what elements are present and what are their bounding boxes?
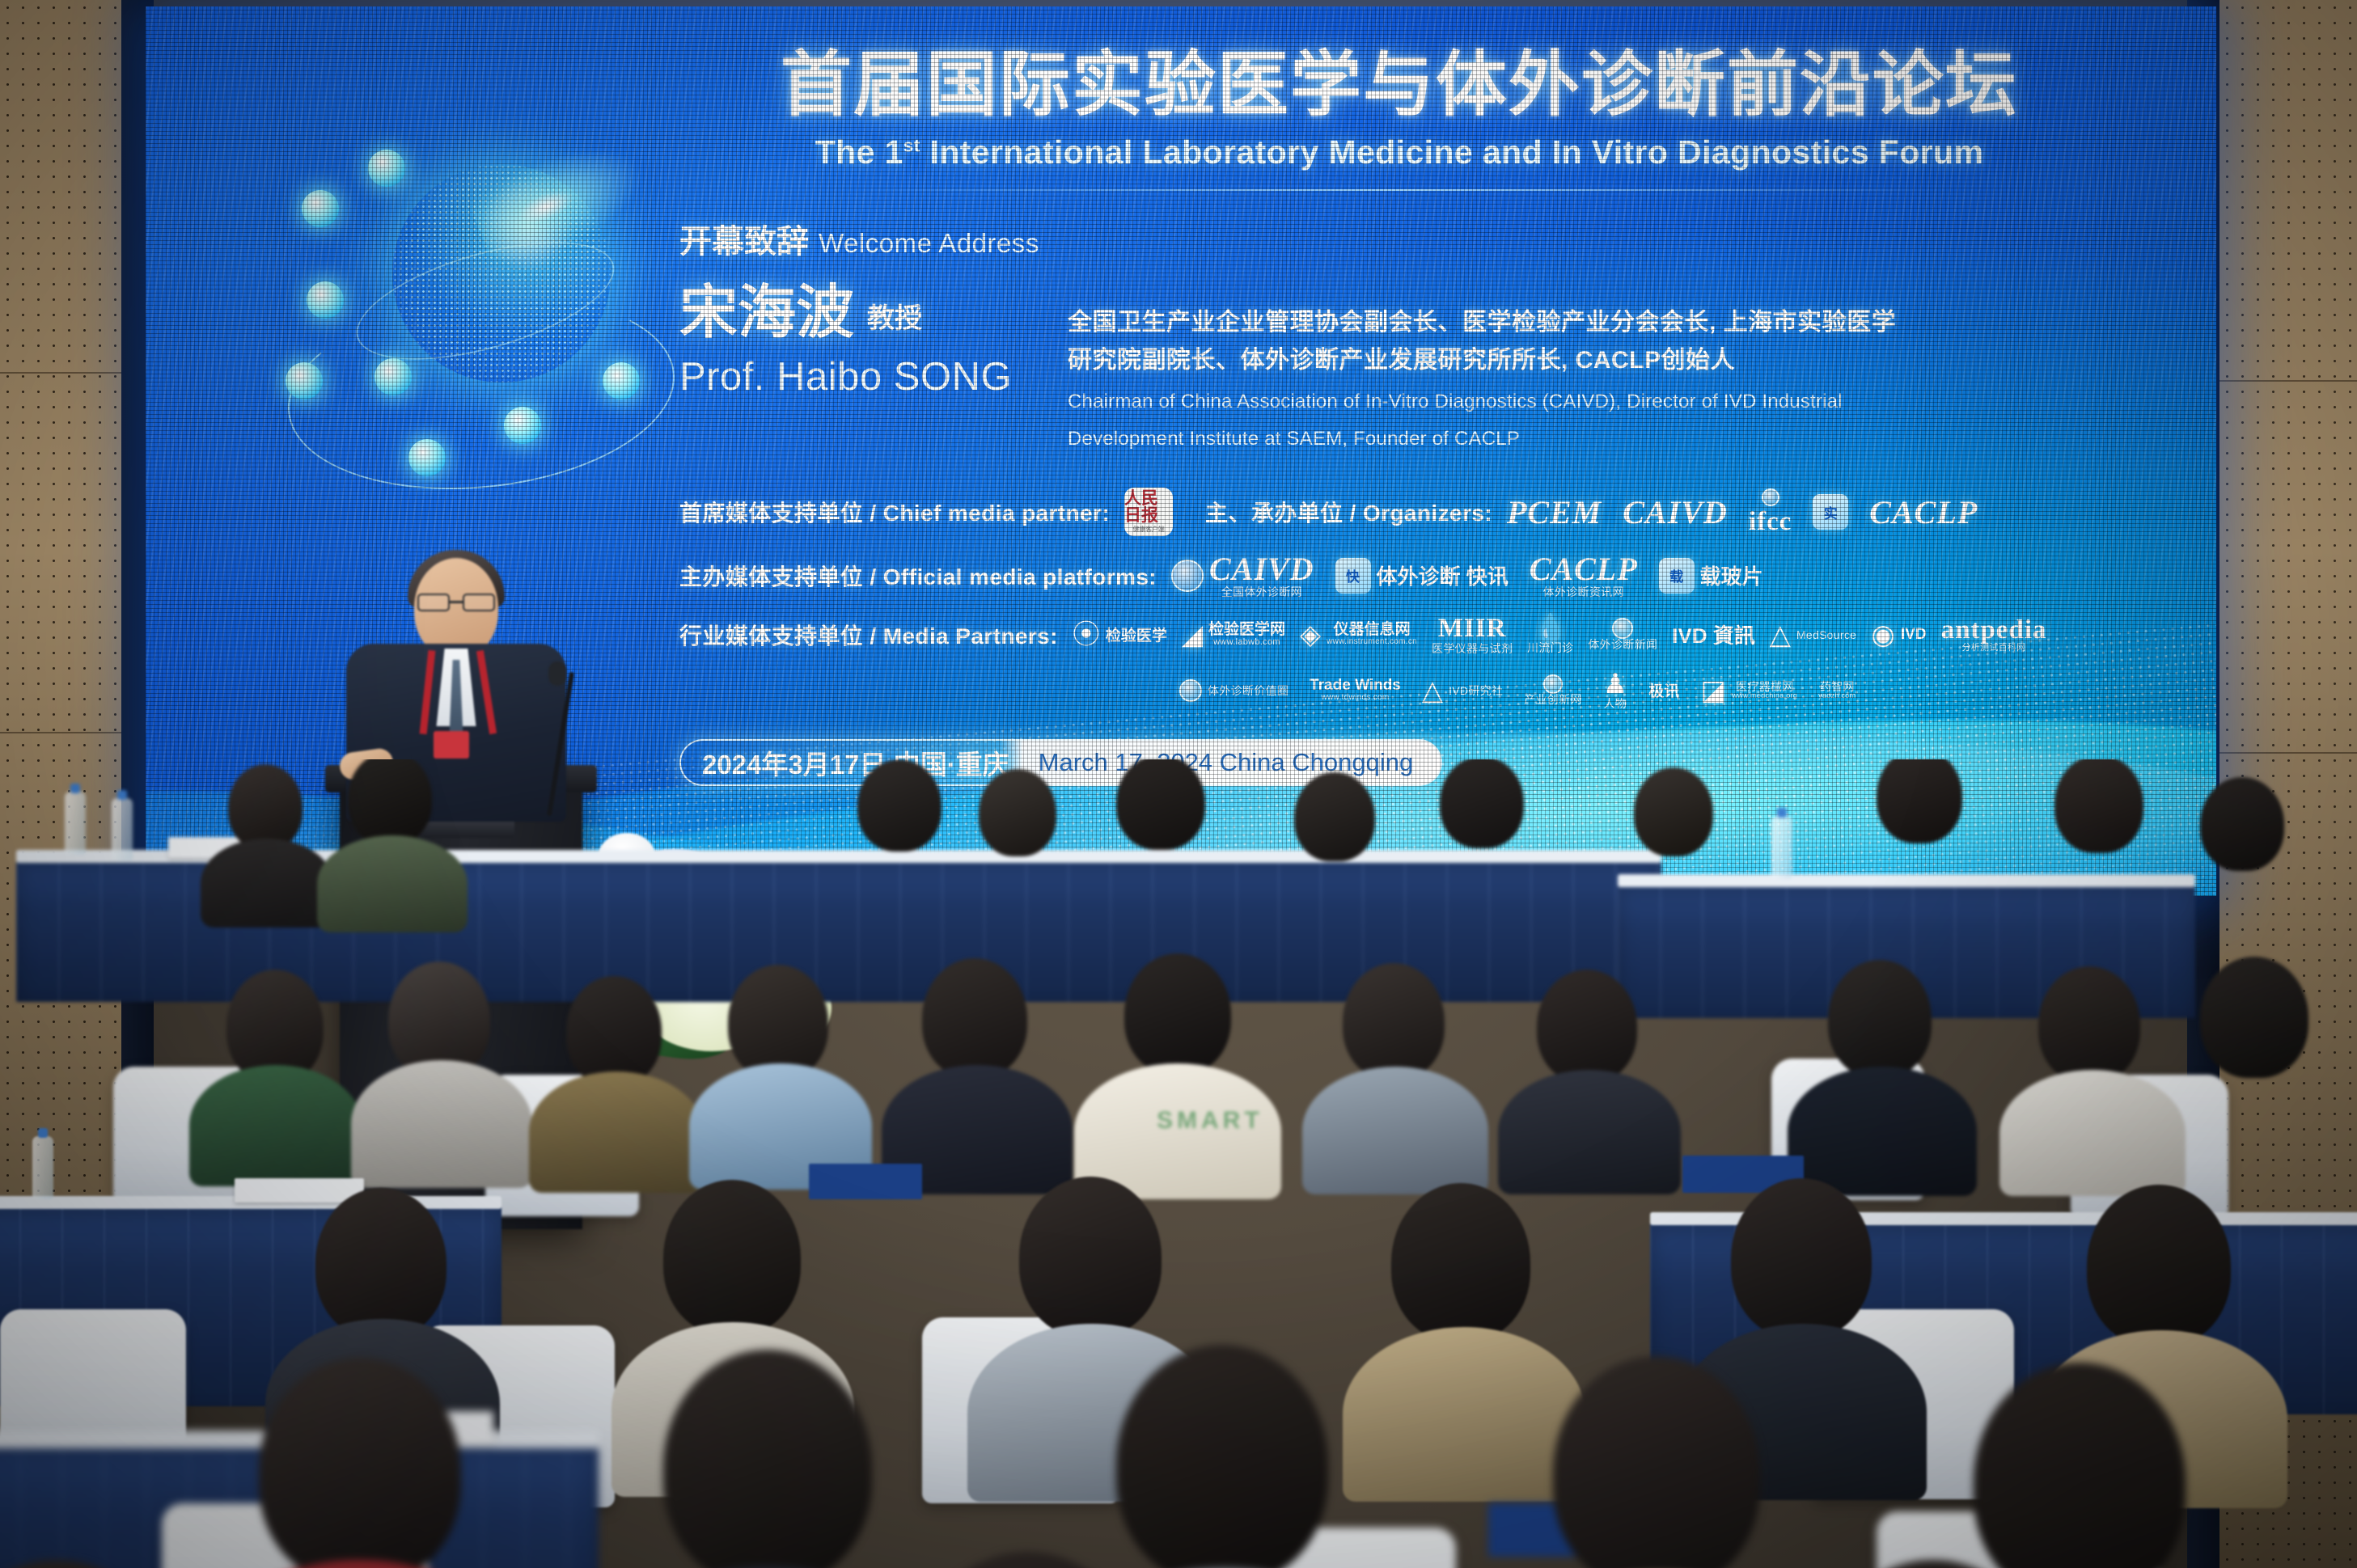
antpedia-word: antpedia (1941, 616, 2047, 645)
water-bottle (32, 1136, 53, 1199)
attendee-head (1391, 1183, 1530, 1342)
speaker-block: 宋海波教授 Prof. Haibo SONG 全国卫生产业企业管理协会副会长、医… (631, 283, 2168, 454)
speaker-name-en: Prof. Haibo SONG (679, 354, 1068, 399)
globe-node (286, 362, 323, 399)
speaker-lanyard (424, 650, 492, 739)
logo-group: 体外诊断价值圈 Trade Winds www.tdwinds.com △ IV… (1179, 670, 1856, 710)
attendee-head (728, 965, 828, 1080)
attendee-head (1828, 960, 1932, 1078)
title-en-pre: The 1 (815, 133, 903, 171)
zaibopian-word: 载玻片 (1700, 560, 1763, 590)
handout-paper (235, 1178, 364, 1202)
attendee-head (1116, 1345, 1328, 1568)
attendee-head (2200, 957, 2308, 1078)
speaker-bio-en-line1: Chairman of China Association of In-Vitr… (1068, 387, 2168, 416)
tiwai-kuaixun-logo: 快 体外诊断 快讯 (1335, 558, 1509, 594)
miir-logo: MIIR 医学仪器与试剂 (1432, 615, 1513, 654)
title-en-ordinal: st (903, 136, 920, 156)
attendee-shoulders (1343, 1327, 1585, 1502)
attendee-head (1294, 772, 1375, 861)
attendee-head (2087, 1185, 2231, 1346)
ivd-yanjiushe-logo: △ IVD研究社 (1422, 677, 1503, 704)
trade-winds-sub: www.tdwinds.com (1322, 694, 1390, 703)
ivd-huaxia-logo: ◉ IVD (1871, 621, 1926, 649)
yiqi-xinxiwang-logo: ◈ 仪器信息网 www.instrument.com.cn (1300, 621, 1417, 649)
attendee-head (922, 958, 1027, 1078)
globe-node (368, 150, 405, 187)
forum-title-cn: 首届国际实验医学与体外诊断前沿论坛 (631, 47, 2168, 122)
speaker-glasses (417, 594, 495, 611)
attendee-shoulders (351, 1060, 532, 1188)
saem-logo: 实 (1813, 494, 1848, 530)
chuanganqi-word: 川流门诊 (1527, 642, 1573, 654)
jiazhiquan-logo: 体外诊断价值圈 (1179, 679, 1289, 702)
jianyan-wang-icon: ◢ (1182, 621, 1203, 649)
globe-node (504, 407, 541, 444)
attendee-shoulders (1498, 1070, 1681, 1194)
caivd-logo: CAIVD (1623, 493, 1728, 531)
yiqi-xinxiwang-word: 仪器信息网 (1334, 622, 1411, 638)
microphone-head (548, 661, 566, 686)
tiwai-xinwen-icon (1612, 618, 1633, 639)
name-card (809, 1164, 922, 1199)
speaker-bio-block: 全国卫生产业企业管理协会副会长、医学检验产业分会会长, 上海市实验医学 研究院副… (1068, 283, 2168, 454)
antpedia-logo: antpedia 分析测试百科网 (1941, 616, 2047, 653)
water-bottle (1771, 816, 1792, 879)
speaker-bio-cn-line2: 研究院副院长、体外诊断产业发展研究所所长, CACLP创始人 (1068, 342, 2168, 380)
yiqi-xinxiwang-sub: www.instrument.com.cn (1327, 638, 1417, 647)
caivd-portal-word: CAIVD (1209, 552, 1314, 586)
miir-word: MIIR (1438, 615, 1507, 643)
jianyan-wang-word: 检验医学网 (1208, 622, 1285, 638)
sponsor-row-media-partners-2: 体外诊断价值圈 Trade Winds www.tdwinds.com △ IV… (679, 670, 2168, 710)
smart-hoodie-text: SMART (1157, 1107, 1263, 1135)
yiliao-qixie-word: 医疗器械网 (1736, 681, 1794, 693)
yiqi-diamond-icon: ◈ (1300, 621, 1321, 649)
sponsor-row-label: 行业媒体支持单位 / Media Partners: (679, 619, 1058, 651)
jianyan-wang-sub: www.labwb.com (1213, 638, 1280, 648)
globe-node (302, 190, 339, 227)
caclp-logo: CACLP (1869, 493, 1978, 531)
renmin-ribao-logo: 人民日报 健康客户端 (1124, 488, 1173, 536)
attendee-head (1634, 767, 1713, 856)
speaker-badge (434, 731, 469, 759)
title-en-post: International Laboratory Medicine and In… (920, 133, 1984, 171)
jiliu-logo: 极讯 (1648, 679, 1679, 701)
caclp-zixun-sub: 体外诊断资讯网 (1543, 586, 1624, 598)
welcome-address-heading: 开幕致辞Welcome Address (631, 215, 2168, 262)
speaker-bio-cn-line1: 全国卫生产业企业管理协会副会长、医学检验产业分会会长, 上海市实验医学 (1068, 304, 2168, 342)
attendee-head (857, 759, 942, 852)
attendee-shoulders (529, 1071, 704, 1193)
welcome-label-en: Welcome Address (819, 228, 1039, 258)
speaker-bio-en-line2: Development Institute at SAEM, Founder o… (1068, 425, 2168, 454)
ifcc-globe-icon (1762, 488, 1779, 506)
ivd-huaxia-icon: ◉ (1871, 621, 1895, 649)
saem-mark: 实 (1824, 502, 1838, 522)
globe-node (307, 281, 344, 319)
caivd-emblem-icon (1171, 560, 1204, 592)
speaker-name-block: 宋海波教授 Prof. Haibo SONG (679, 283, 1068, 399)
tiwai-kuaixun-word: 体外诊断 快讯 (1377, 560, 1509, 590)
sponsor-section: 首席媒体支持单位 / Chief media partner: 人民日报 健康客… (631, 488, 2168, 710)
chanye-chuangxin-logo: 产业创新网 (1524, 674, 1582, 706)
caivd-portal-sub: 全国体外诊断网 (1221, 586, 1302, 598)
yiliao-qixie-sub: www.medchina.org (1732, 692, 1797, 699)
logo-group: ⦿ 检验医学 ◢ 检验医学网 www.labwb.com ◈ (1073, 615, 2047, 654)
table-top (1618, 874, 2195, 887)
tiwai-kuaixun-icon: 快 (1335, 558, 1371, 594)
water-bottle (65, 792, 86, 855)
logo-group: 人民日报 健康客户端 (1124, 488, 1173, 536)
attendee-head (566, 976, 662, 1086)
attendee-head (2200, 777, 2284, 871)
renwu-word: 人物 (1604, 698, 1627, 710)
caivd-portal-logo: CAIVD 全国体外诊断网 (1171, 552, 1314, 598)
yiliao-arc-icon: ◪ (1700, 677, 1726, 704)
attendee-head (228, 764, 303, 850)
caclp-zixun-logo: CACLP 体外诊断资讯网 (1530, 552, 1638, 598)
speaker-name-cn-wrap: 宋海波教授 (679, 283, 1068, 344)
chanye-chuangxin-word: 产业创新网 (1524, 694, 1582, 706)
jianyan-swirl-icon: ⦿ (1073, 621, 1100, 649)
yaozhi-word: 药智网 (1820, 681, 1855, 693)
attendee-head (1537, 970, 1637, 1083)
ivd-yanjiushe-word: IVD研究社 (1449, 683, 1503, 699)
renwu-logo: ♟ 人物 (1603, 670, 1627, 710)
renmin-ribao-sub: 健康客户端 (1133, 525, 1165, 534)
attendee-head (315, 1188, 446, 1338)
speaker-name-cn: 宋海波 (679, 281, 854, 345)
attendee-head (348, 759, 432, 845)
sponsor-row-media-partners: 行业媒体支持单位 / Media Partners: ⦿ 检验医学 ◢ 检验医学… (679, 615, 2168, 654)
attendee-head (2054, 759, 2143, 853)
jianyan-yixue-word: 检验医学 (1106, 623, 1167, 645)
yaozhi-sub: yaozh.com (1818, 692, 1856, 699)
medsource-mark-icon: △ (1770, 621, 1791, 649)
attendee-head (906, 1552, 1149, 1568)
attendee-head (1440, 759, 1524, 848)
chuanganqi-logo: 💧 川流门诊 (1527, 615, 1573, 654)
attendee-head (1731, 1178, 1872, 1338)
globe-node (374, 358, 412, 395)
jianyan-yixue-logo: ⦿ 检验医学 (1073, 621, 1167, 649)
attendee-shoulders (189, 1065, 362, 1186)
caclp-zixun-word: CACLP (1530, 552, 1638, 586)
renmin-ribao-word: 人民日报 (1124, 490, 1173, 524)
sponsor-row-label-organizers: 主、承办单位 / Organizers: (1205, 496, 1492, 528)
sponsor-row-label: 主办媒体支持单位 / Official media platforms: (679, 560, 1157, 592)
sponsor-row-chief-media: 首席媒体支持单位 / Chief media partner: 人民日报 健康客… (679, 488, 2168, 536)
attendee-head (663, 1180, 801, 1335)
tiwai-xinwen-word: 体外诊断新闻 (1588, 639, 1657, 651)
attendee-shoulders (317, 835, 468, 932)
search-icon (1543, 674, 1563, 694)
ivd-zixun-logo: IVD 資訊 (1672, 619, 1755, 649)
trade-winds-word: Trade Winds (1310, 678, 1401, 694)
title-divider (857, 189, 1941, 191)
jianyan-yixuewang-logo: ◢ 检验医学网 www.labwb.com (1182, 621, 1285, 649)
tiwai-xinwen-logo: 体外诊断新闻 (1588, 618, 1657, 651)
welcome-label-cn: 开幕致辞 (679, 224, 809, 260)
attendee-head (979, 769, 1056, 856)
person-icon: ♟ (1603, 670, 1627, 698)
ifcc-word: ifcc (1749, 508, 1792, 536)
jiazhiquan-word: 体外诊断价值圈 (1208, 683, 1289, 699)
sponsor-row-label: 首席媒体支持单位 / Chief media partner: (679, 496, 1110, 528)
attendee-head (1019, 1177, 1162, 1337)
sponsor-row-official-platforms: 主办媒体支持单位 / Official media platforms: CAI… (679, 552, 2168, 598)
forum-title-en: The 1st International Laboratory Medicin… (631, 133, 2168, 171)
zaibopian-icon: 载 (1659, 558, 1695, 594)
attendee-shoulders (1788, 1067, 1977, 1196)
attendee-head (1116, 759, 1205, 850)
yiliao-qixie-logo: ◪ 医疗器械网 www.medchina.org (1700, 677, 1797, 704)
flame-icon: 💧 (1534, 615, 1568, 642)
miir-sub: 医学仪器与试剂 (1432, 643, 1513, 655)
zaibopian-logo: 载 载玻片 (1659, 558, 1763, 594)
antpedia-sub: 分析测试百科网 (1961, 644, 2025, 653)
ifcc-logo: ifcc (1749, 488, 1792, 536)
pcem-logo: PCEM (1507, 493, 1602, 531)
jiazhiquan-rings-icon (1179, 679, 1202, 702)
attendee-head (1343, 963, 1445, 1080)
flask-icon: △ (1422, 677, 1443, 704)
yaozhi-logo: 药智网 yaozh.com (1818, 681, 1856, 700)
attendee-head (1124, 953, 1231, 1075)
audience-area: SMART (0, 759, 2357, 1568)
medsource-logo: △ MedSource (1770, 621, 1856, 649)
attendee-shoulders (1302, 1067, 1488, 1194)
speaker-honorific-cn: 教授 (867, 303, 922, 334)
water-bottle (112, 798, 133, 861)
attendee-shoulders (201, 839, 333, 928)
screen-content: 首届国际实验医学与体外诊断前沿论坛 The 1st International … (631, 47, 2168, 786)
logo-group: CAIVD 全国体外诊断网 快 体外诊断 快讯 CACLP 体外诊断资讯网 (1171, 552, 1763, 598)
conference-photo-scene: 首届国际实验医学与体外诊断前沿论坛 The 1st International … (0, 0, 2357, 1568)
logo-group-organizers: PCEM CAIVD ifcc 实 CACLP (1507, 488, 1978, 536)
attendee-head (1877, 759, 1962, 843)
ivd-huaxia-word: IVD (1901, 626, 1927, 644)
globe-node (408, 439, 446, 476)
medsource-word: MedSource (1796, 628, 1856, 641)
attendee-shoulders (1999, 1070, 2186, 1196)
trade-winds-logo: Trade Winds www.tdwinds.com (1310, 678, 1401, 702)
attendee-head (2038, 966, 2140, 1083)
